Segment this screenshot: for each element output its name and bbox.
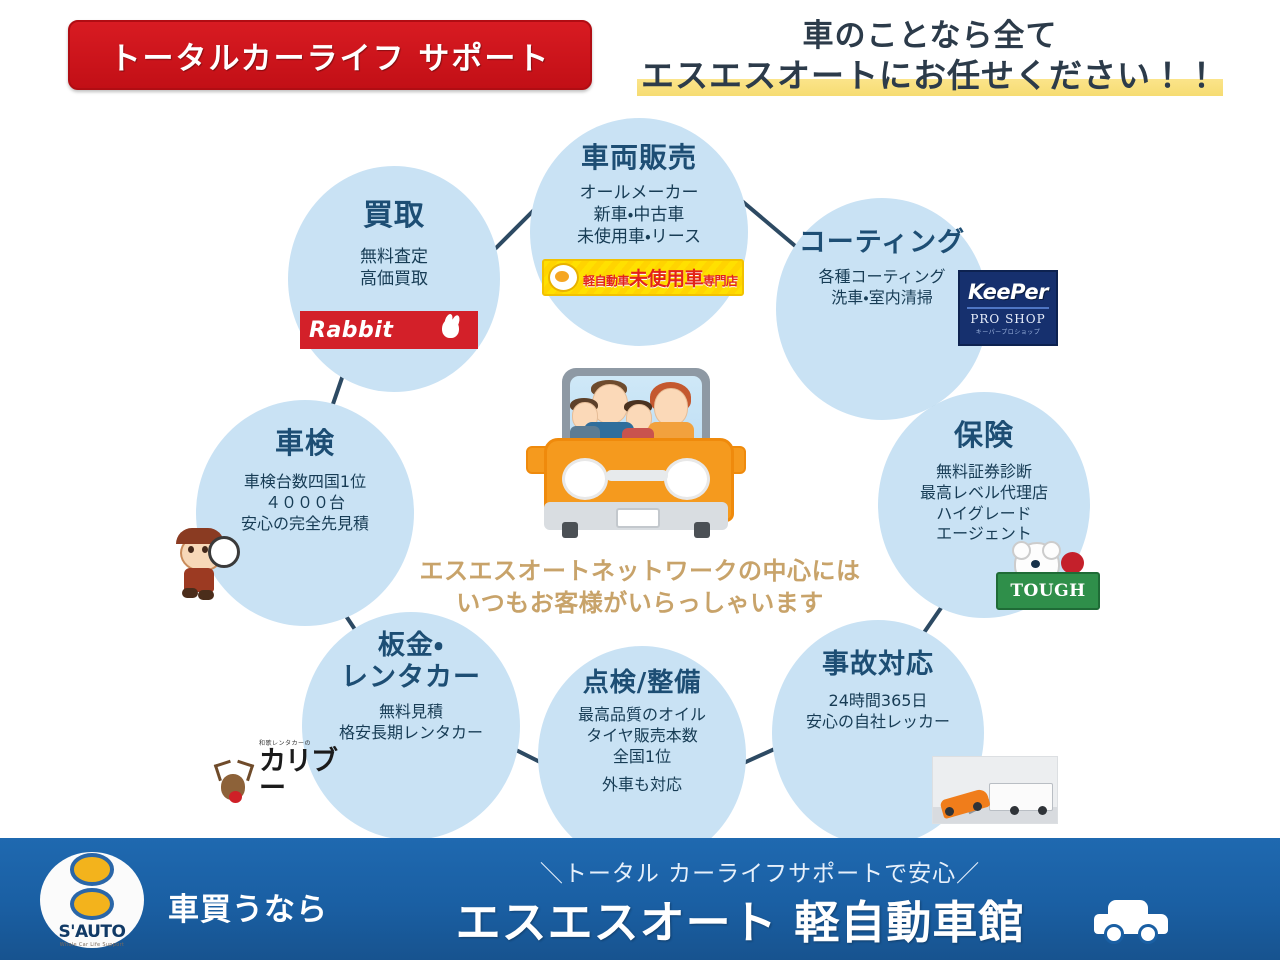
node-title: 保険	[954, 412, 1014, 454]
badge-text-group: 和歌レンタカーの カリブー	[259, 741, 362, 802]
mishiyousha-senmonten-badge: 軽自動車未使用車専門店	[542, 259, 744, 296]
node-subtext: 最高品質のオイル タイヤ販売本数 全国1位 外車も対応	[578, 705, 706, 796]
car-icon	[1094, 900, 1168, 940]
shaken-mascot	[164, 528, 236, 600]
node-title: 車検	[275, 420, 335, 462]
logo-tagline: Whole Car Life Support	[60, 942, 124, 948]
node-title: 車両販売	[581, 136, 697, 176]
tough-polar-bear-badge: TOUGH	[996, 540, 1096, 610]
footer-subtext: ＼トータル カーライフサポートで安心／	[420, 854, 1100, 888]
reindeer-icon	[212, 762, 256, 802]
family-car-illustration	[520, 362, 752, 552]
footer-left-text: 車買うなら	[168, 884, 328, 929]
mascot-eyes	[188, 546, 194, 553]
headline: 車のことなら全て エスエスオートにお任せください！！	[600, 18, 1260, 96]
badge-text: KeePer	[968, 280, 1048, 304]
caption-line2: いつもお客様がいらっしゃいます	[380, 587, 900, 619]
keeper-pro-shop-badge: KeePer PRO SHOP キーパープロショップ	[958, 270, 1058, 346]
red-banner: トータルカーライフ サポート	[68, 20, 592, 90]
mascot-shoes	[182, 588, 198, 598]
badge-box: TOUGH	[996, 572, 1100, 610]
badge-subtext-jp: キーパープロショップ	[976, 327, 1041, 336]
node-title: 板金・ レンタカー	[341, 630, 481, 694]
node-subtext: 無料見積 格安長期レンタカー	[339, 702, 483, 744]
node-subtext: 無料証券診断 最高レベル代理店 ハイグレード エージェント	[920, 462, 1048, 545]
node-coating[interactable]: コーティング 各種コーティング 洗車・室内清掃	[776, 198, 988, 420]
badge-text: 軽自動車未使用車専門店	[583, 264, 738, 291]
headline-line2: エスエスオートにお任せください！！	[637, 56, 1223, 96]
node-subtext: 24時間365日 安心の自社レッカー	[806, 691, 950, 733]
node-title: 点検/整備	[583, 662, 702, 699]
rabbit-badge: Rabbit	[300, 311, 478, 349]
caribou-rentacar-badge: 和歌レンタカーの カリブー	[212, 760, 362, 802]
center-caption: エスエスオートネットワークの中心には いつもお客様がいらっしゃいます	[380, 555, 900, 620]
badge-text: TOUGH	[1010, 581, 1085, 601]
badge-mascot-icon	[548, 263, 579, 292]
footer-main-text: エスエスオート 軽自動車館	[390, 886, 1090, 951]
node-subtext: 無料査定 高価買取	[360, 246, 428, 290]
node-maintenance[interactable]: 点検/整備 最高品質のオイル タイヤ販売本数 全国1位 外車も対応	[538, 646, 746, 866]
badge-text: カリブー	[259, 748, 362, 802]
rabbit-icon	[436, 314, 478, 346]
logo-oval-bottom	[70, 888, 114, 921]
node-purchase[interactable]: 買取 無料査定 高価買取	[288, 166, 500, 392]
logo-name: S'AUTO	[59, 922, 126, 942]
node-title: コーティング	[799, 220, 965, 259]
infographic-canvas: トータルカーライフ サポート 車のことなら全て エスエスオートにお任せください！…	[0, 0, 1280, 960]
footer-bar: S'AUTO Whole Car Life Support 車買うなら ＼トータ…	[0, 838, 1280, 960]
node-subtext: オールメーカー 新車・中古車 未使用車・リース	[577, 182, 701, 248]
badge-divider	[967, 307, 1050, 309]
logo-oval-top	[70, 853, 114, 886]
banner-label: トータルカーライフ サポート	[110, 33, 551, 78]
badge-text: Rabbit	[300, 314, 436, 346]
headline-line1: 車のことなら全て	[600, 18, 1260, 56]
node-bodywork-rentacar[interactable]: 板金・ レンタカー 無料見積 格安長期レンタカー	[302, 612, 520, 840]
sauto-logo[interactable]: S'AUTO Whole Car Life Support	[40, 852, 144, 948]
node-title: 買取	[363, 190, 425, 234]
tow-truck-photo	[932, 756, 1058, 824]
node-subtext: 各種コーティング 洗車・室内清掃	[818, 267, 945, 309]
node-subtext: 車検台数四国1位 ４０００台 安心の完全先見積	[241, 472, 369, 534]
badge-subtext: PRO SHOP	[970, 312, 1045, 326]
node-vehicle-sales[interactable]: 車両販売 オールメーカー 新車・中古車 未使用車・リース	[530, 118, 748, 346]
node-title: 事故対応	[822, 642, 934, 681]
caption-line1: エスエスオートネットワークの中心には	[380, 555, 900, 587]
mascot-balloon	[208, 536, 240, 568]
apple-icon	[1061, 552, 1084, 574]
